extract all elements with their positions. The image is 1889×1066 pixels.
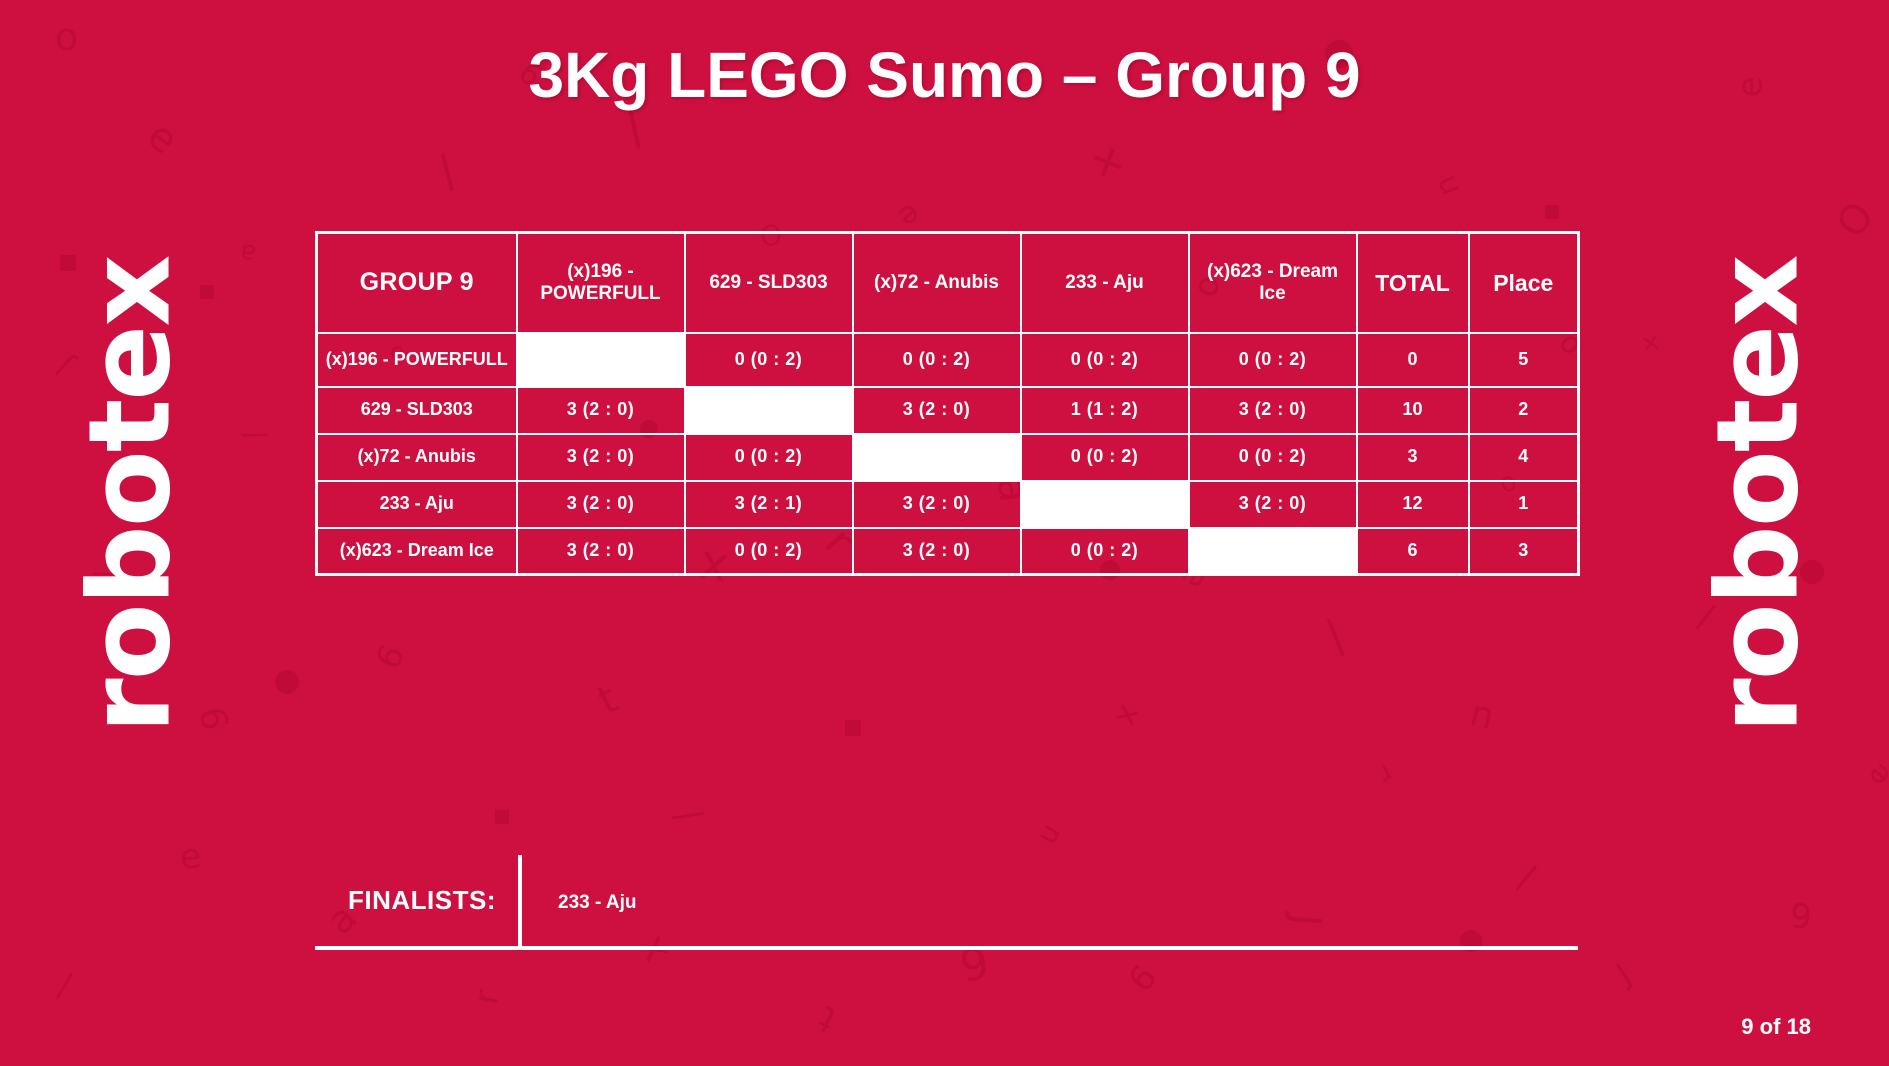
match-cell-self xyxy=(517,333,685,387)
decorative-square xyxy=(845,720,861,736)
robotex-logo-right: robotex xyxy=(1693,256,1823,733)
row-place: 4 xyxy=(1469,434,1579,481)
decorative-glyph: e xyxy=(893,198,926,233)
decorative-glyph: 6 xyxy=(371,640,411,674)
table-row: (x)196 - POWERFULL 0 (0 : 2) 0 (0 : 2) 0… xyxy=(317,333,1579,387)
decorative-glyph: x xyxy=(1111,701,1148,731)
decorative-glyph: t xyxy=(592,679,624,722)
decorative-glyph: a xyxy=(238,239,257,267)
decorative-glyph: O xyxy=(1830,196,1881,245)
decorative-square xyxy=(200,285,214,299)
column-header-3: (x)72 - Anubis xyxy=(853,233,1021,333)
group-label: GROUP 9 xyxy=(317,233,517,333)
results-table-container: GROUP 9 (x)196 - POWERFULL 629 - SLD303 … xyxy=(315,231,1578,576)
match-cell: 0 (0 : 2) xyxy=(853,333,1021,387)
row-team-name: (x)72 - Anubis xyxy=(317,434,517,481)
match-cell: 0 (0 : 2) xyxy=(685,333,853,387)
decorative-glyph: + xyxy=(1081,137,1138,189)
match-cell: 3 (2 : 0) xyxy=(517,387,685,434)
table-row: (x)623 - Dream Ice 3 (2 : 0) 0 (0 : 2) 3… xyxy=(317,528,1579,575)
decorative-glyph: u xyxy=(1032,819,1065,848)
decorative-glyph: | xyxy=(669,808,702,823)
match-cell: 3 (2 : 0) xyxy=(517,434,685,481)
decorative-glyph: r xyxy=(1374,759,1398,789)
decorative-glyph: 9 xyxy=(1789,899,1812,934)
decorative-dot xyxy=(275,670,299,694)
decorative-glyph: e xyxy=(178,839,203,875)
page-indicator: 9 of 18 xyxy=(1741,1014,1811,1040)
match-cell: 3 (2 : 1) xyxy=(685,481,853,528)
decorative-glyph: e xyxy=(140,115,184,162)
match-cell-self xyxy=(685,387,853,434)
column-header-4: 233 - Aju xyxy=(1021,233,1189,333)
table-row: 629 - SLD303 3 (2 : 0) 3 (2 : 0) 1 (1 : … xyxy=(317,387,1579,434)
decorative-glyph: / xyxy=(429,149,465,194)
decorative-glyph: u xyxy=(1466,698,1497,739)
decorative-square xyxy=(495,810,509,824)
decorative-glyph: + xyxy=(1635,326,1668,360)
match-cell: 3 (2 : 0) xyxy=(853,481,1021,528)
column-header-total: TOTAL xyxy=(1357,233,1469,333)
finalists-section: FINALISTS: 233 - Aju xyxy=(315,855,1578,950)
match-cell: 3 (2 : 0) xyxy=(517,528,685,575)
row-place: 2 xyxy=(1469,387,1579,434)
decorative-glyph: e xyxy=(1862,758,1889,792)
match-cell: 0 (0 : 2) xyxy=(1189,333,1357,387)
match-cell: 0 (0 : 2) xyxy=(1021,434,1189,481)
decorative-glyph: u xyxy=(1432,170,1467,199)
match-cell: 3 (2 : 0) xyxy=(1189,387,1357,434)
row-total: 10 xyxy=(1357,387,1469,434)
match-cell: 3 (2 : 0) xyxy=(853,387,1021,434)
table-header-row: GROUP 9 (x)196 - POWERFULL 629 - SLD303 … xyxy=(317,233,1579,333)
decorative-glyph: 9 xyxy=(197,703,237,732)
finalists-value: 233 - Aju xyxy=(558,892,637,914)
finalists-label: FINALISTS: xyxy=(348,885,496,916)
decorative-glyph: | xyxy=(1323,619,1350,661)
row-team-name: (x)196 - POWERFULL xyxy=(317,333,517,387)
column-header-2: 629 - SLD303 xyxy=(685,233,853,333)
table-row: (x)72 - Anubis 3 (2 : 0) 0 (0 : 2) 0 (0 … xyxy=(317,434,1579,481)
match-cell: 1 (1 : 2) xyxy=(1021,387,1189,434)
column-header-place: Place xyxy=(1469,233,1579,333)
row-total: 3 xyxy=(1357,434,1469,481)
match-cell: 0 (0 : 2) xyxy=(1021,333,1189,387)
match-cell: 0 (0 : 2) xyxy=(685,528,853,575)
match-cell: 0 (0 : 2) xyxy=(1189,434,1357,481)
row-place: 5 xyxy=(1469,333,1579,387)
match-cell: 3 (2 : 0) xyxy=(517,481,685,528)
robotex-logo-left: robotex xyxy=(66,256,196,733)
row-total: 6 xyxy=(1357,528,1469,575)
decorative-glyph: r xyxy=(469,987,505,1006)
decorative-glyph: 9 xyxy=(1121,958,1161,997)
match-cell: 3 (2 : 0) xyxy=(1189,481,1357,528)
match-cell: 0 (0 : 2) xyxy=(1021,528,1189,575)
row-total: 12 xyxy=(1357,481,1469,528)
match-cell: 0 (0 : 2) xyxy=(685,434,853,481)
table-row: 233 - Aju 3 (2 : 0) 3 (2 : 1) 3 (2 : 0) … xyxy=(317,481,1579,528)
match-cell: 3 (2 : 0) xyxy=(853,528,1021,575)
row-team-name: 629 - SLD303 xyxy=(317,387,517,434)
row-place: 3 xyxy=(1469,528,1579,575)
results-table: GROUP 9 (x)196 - POWERFULL 629 - SLD303 … xyxy=(315,231,1580,576)
match-cell-self xyxy=(853,434,1021,481)
column-header-1: (x)196 - POWERFULL xyxy=(517,233,685,333)
decorative-glyph: / xyxy=(239,426,271,445)
row-total: 0 xyxy=(1357,333,1469,387)
decorative-square xyxy=(1545,205,1559,219)
row-team-name: (x)623 - Dream Ice xyxy=(317,528,517,575)
row-team-name: 233 - Aju xyxy=(317,481,517,528)
match-cell-self xyxy=(1021,481,1189,528)
finalists-divider xyxy=(518,855,522,950)
match-cell-self xyxy=(1189,528,1357,575)
page-title: 3Kg LEGO Sumo – Group 9 xyxy=(0,38,1889,112)
decorative-glyph: | xyxy=(53,969,77,1000)
decorative-glyph: t xyxy=(813,999,841,1038)
row-place: 1 xyxy=(1469,481,1579,528)
column-header-5: (x)623 - Dream Ice xyxy=(1189,233,1357,333)
decorative-glyph: J xyxy=(1612,960,1636,990)
